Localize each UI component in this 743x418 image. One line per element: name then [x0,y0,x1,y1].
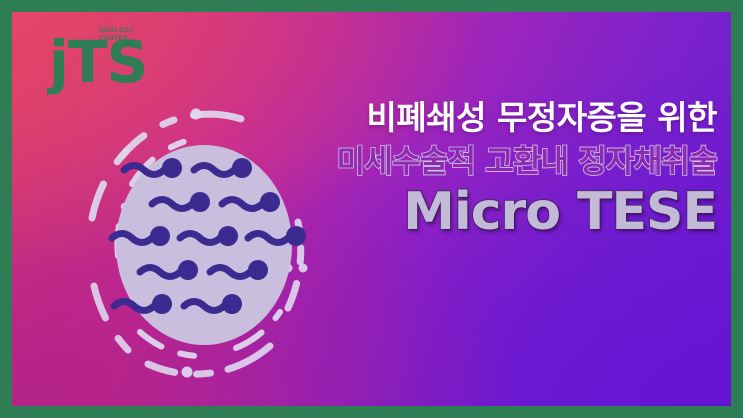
headline-line-3: Micro TESE [257,182,717,242]
poster-canvas: UROLOGY CENTER jTS [12,12,731,406]
logo-wordmark: jTS [49,33,147,91]
headline-line-1: 비폐쇄성 무정자증을 위한 [257,98,717,138]
headline-block: 비폐쇄성 무정자증을 위한 미세수술적 고환내 정자채취술 Micro TESE [257,98,717,242]
poster-frame: UROLOGY CENTER jTS [0,0,743,418]
jts-logo: UROLOGY CENTER jTS [49,26,199,96]
headline-line-2: 미세수술적 고환내 정자채취술 [257,142,717,182]
